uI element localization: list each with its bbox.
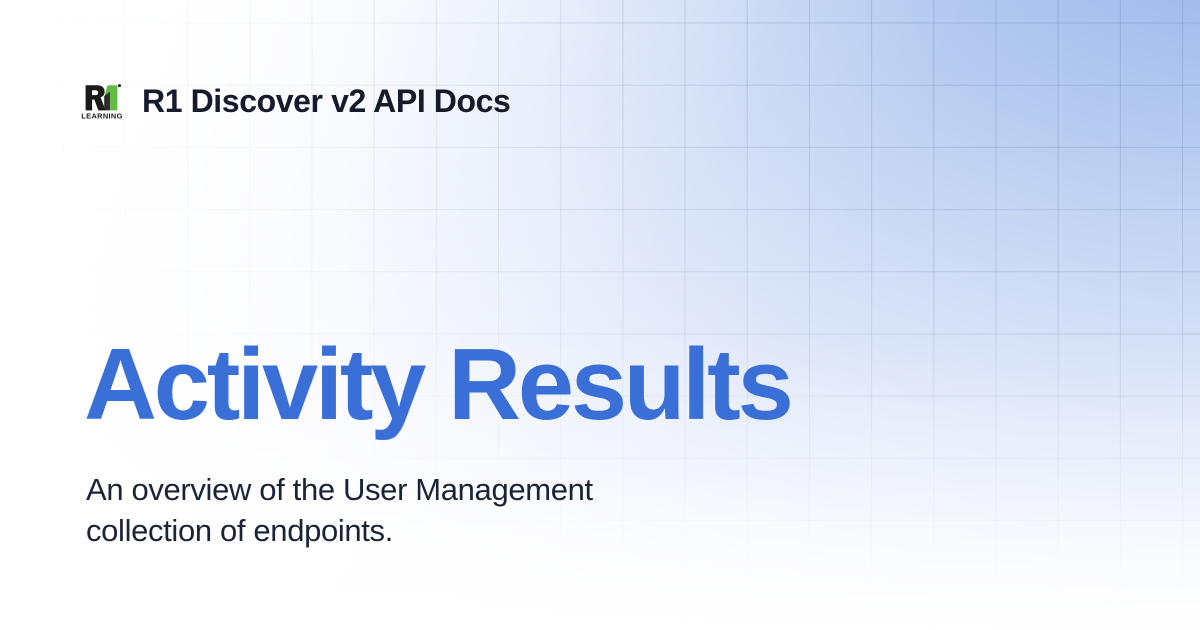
svg-text:LEARNING: LEARNING — [81, 111, 122, 120]
page-subtitle: An overview of the User Management colle… — [86, 469, 786, 551]
brand-header: LEARNING R1 Discover v2 API Docs — [80, 80, 510, 122]
subtitle-line-2: collection of endpoints. — [86, 510, 786, 551]
subtitle-line-1: An overview of the User Management — [86, 469, 786, 510]
r1-learning-logo-icon: LEARNING — [80, 80, 124, 122]
og-card: LEARNING R1 Discover v2 API Docs Activit… — [0, 0, 1200, 630]
page-title: Activity Results — [84, 335, 791, 436]
brand-title: R1 Discover v2 API Docs — [142, 85, 510, 117]
card-content: LEARNING R1 Discover v2 API Docs Activit… — [0, 0, 1200, 630]
